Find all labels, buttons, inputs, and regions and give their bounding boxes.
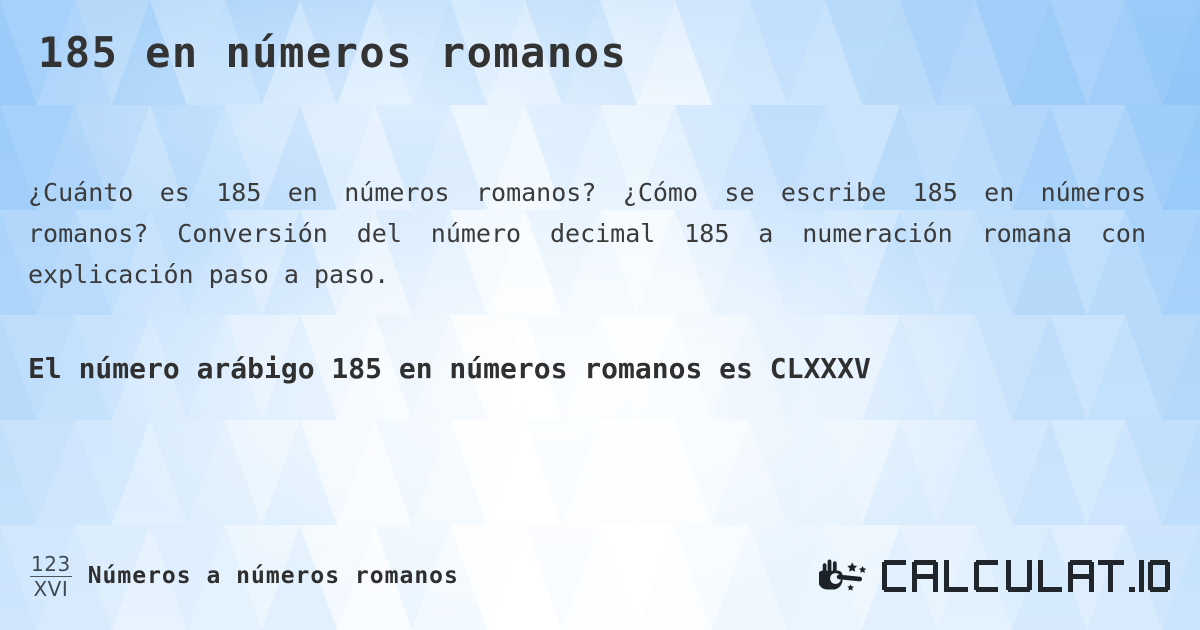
card-content: 185 en números romanos ¿Cuánto es 185 en… — [0, 0, 1200, 630]
footer-brand[interactable]: 123 XVI Números a números romanos — [30, 554, 459, 599]
fraction-numerator: 123 — [30, 554, 72, 577]
description-text: ¿Cuánto es 185 en números romanos? ¿Cómo… — [28, 172, 1146, 295]
number-fraction-logo-icon: 123 XVI — [30, 554, 72, 599]
magic-wand-hand-icon — [819, 557, 873, 595]
og-card: 185 en números romanos ¿Cuánto es 185 en… — [0, 0, 1200, 630]
page-title: 185 en números romanos — [38, 28, 627, 77]
site-logo[interactable]: CALCULAT.IO — [819, 556, 1170, 596]
calculatio-wordmark-icon — [882, 556, 1170, 596]
answer-text: El número arábigo 185 en números romanos… — [28, 345, 1088, 392]
fraction-denominator: XVI — [33, 577, 68, 599]
footer: 123 XVI Números a números romanos — [0, 548, 1200, 604]
footer-section-label: Números a números romanos — [88, 563, 459, 589]
